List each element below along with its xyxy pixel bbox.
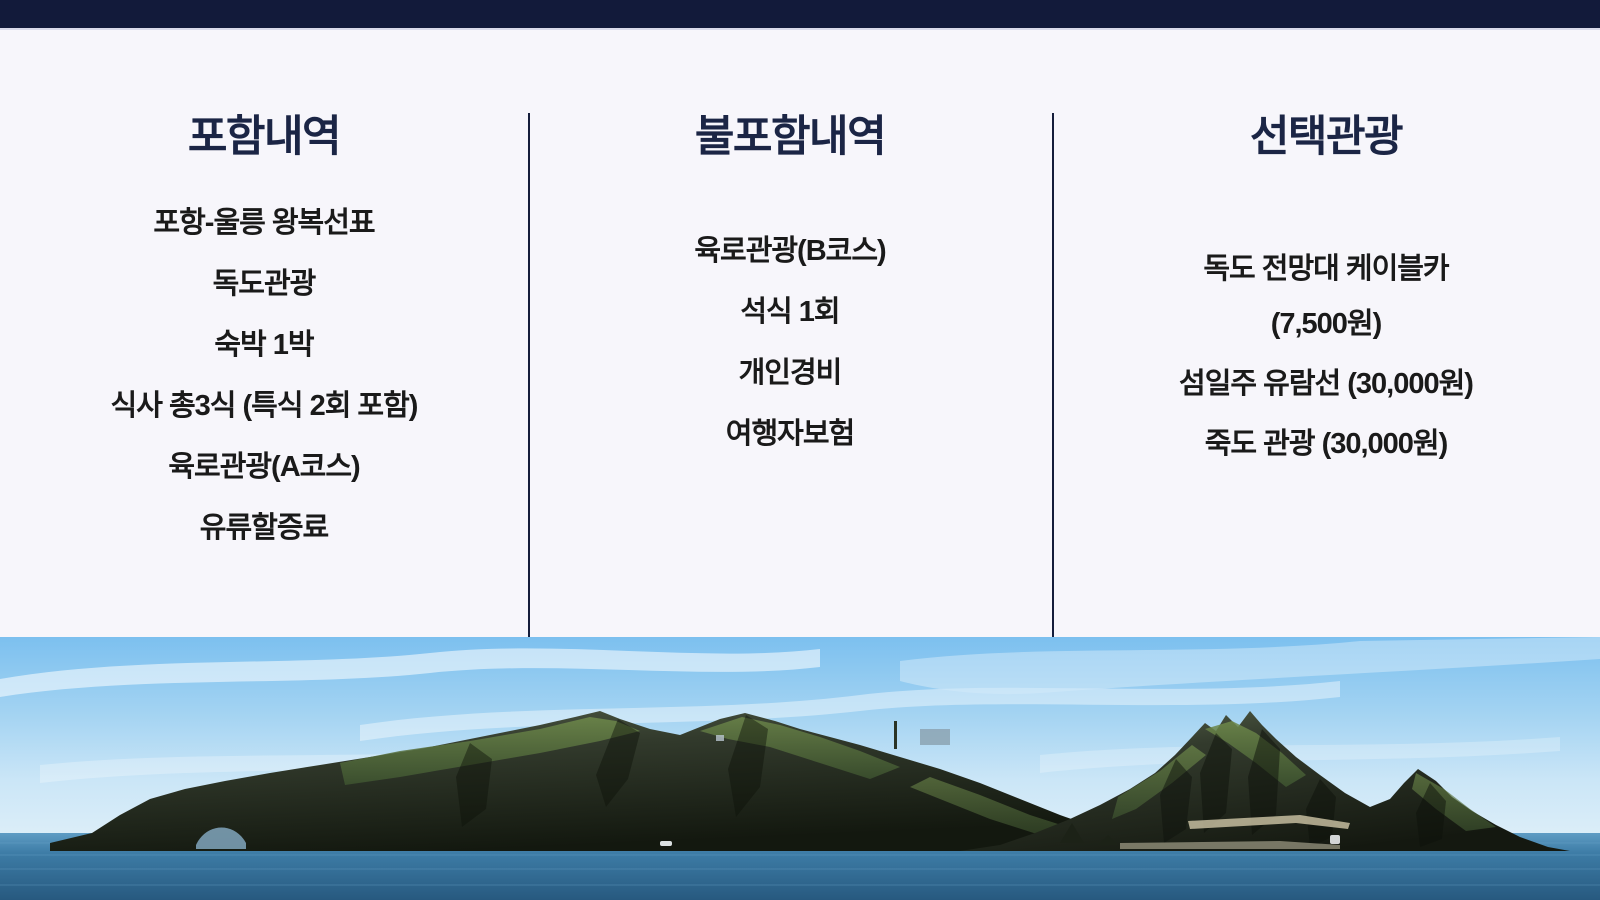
list-item: 섬일주 유람선 (30,000원) (1179, 370, 1473, 399)
list-item: 죽도 관광 (30,000원) (1205, 430, 1448, 459)
column-heading-optional-tour: 선택관광 (1250, 116, 1402, 159)
list-item: 육로관광(B코스) (694, 237, 885, 266)
list-item: 석식 1회 (740, 298, 839, 327)
top-navy-bar (0, 0, 1600, 28)
column-divider-left (528, 113, 530, 637)
list-item: 식사 총3식 (특식 2회 포함) (111, 392, 418, 421)
column-included: 포함내역 포항-울릉 왕복선표 독도관광 숙박 1박 식사 총3식 (특식 2회… (0, 28, 528, 637)
list-item: 육로관광(A코스) (168, 453, 359, 482)
info-columns: 포함내역 포항-울릉 왕복선표 독도관광 숙박 1박 식사 총3식 (특식 2회… (0, 28, 1600, 637)
list-item: 포항-울릉 왕복선표 (153, 209, 374, 238)
list-item: 개인경비 (739, 359, 842, 388)
column-items-not-included: 육로관광(B코스) 석식 1회 개인경비 여행자보험 (528, 237, 1052, 481)
column-items-included: 포항-울릉 왕복선표 독도관광 숙박 1박 식사 총3식 (특식 2회 포함) … (0, 209, 528, 575)
column-optional-tour: 선택관광 독도 전망대 케이블카 (7,500원) 섬일주 유람선 (30,00… (1052, 28, 1600, 637)
list-item: 여행자보험 (726, 420, 854, 449)
list-item: 유류할증료 (200, 514, 328, 543)
list-item: 독도관광 (213, 270, 316, 299)
promo-slide: 포함내역 포항-울릉 왕복선표 독도관광 숙박 1박 식사 총3식 (특식 2회… (0, 0, 1600, 900)
dokdo-island-photo (0, 637, 1600, 900)
column-divider-right (1052, 113, 1054, 637)
column-heading-included: 포함내역 (188, 116, 340, 159)
column-not-included: 불포함내역 육로관광(B코스) 석식 1회 개인경비 여행자보험 (528, 28, 1052, 637)
list-item: 숙박 1박 (214, 331, 313, 360)
column-heading-not-included: 불포함내역 (695, 116, 885, 159)
column-items-optional-tour: 독도 전망대 케이블카 (7,500원) 섬일주 유람선 (30,000원) 죽… (1052, 255, 1600, 490)
list-item: 독도 전망대 케이블카 (1203, 255, 1448, 284)
list-item: (7,500원) (1271, 310, 1382, 339)
